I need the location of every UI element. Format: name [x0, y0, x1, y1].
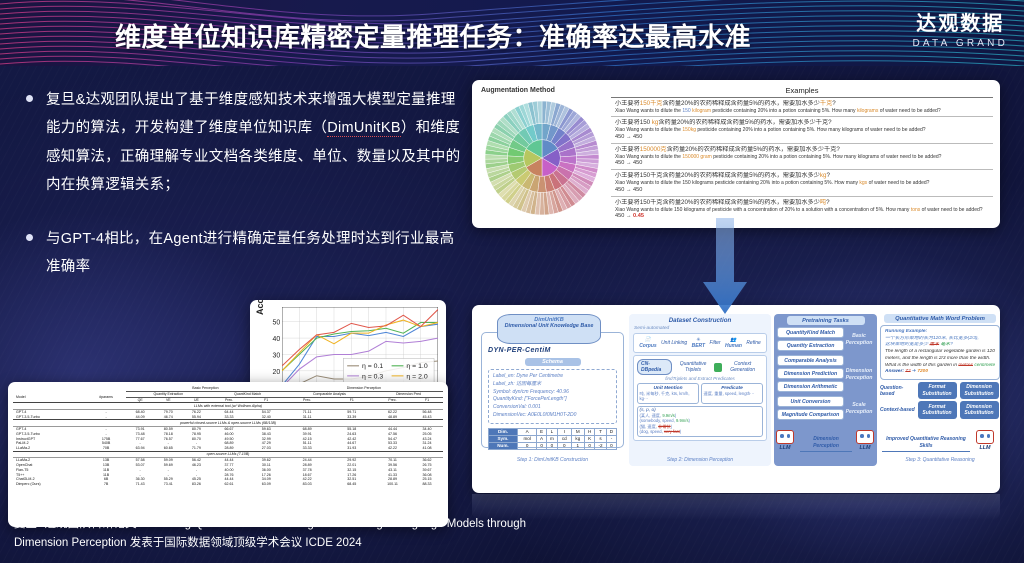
kb-entity-box: DYN-PER-CentiM Schema Label_en: Dyne Per… — [481, 332, 624, 448]
corpus-icon: 📄Corpus — [639, 337, 657, 349]
step2-label: Step 2: Dimension Perception — [629, 457, 771, 464]
format-substitution-button[interactable]: Format Substitution — [918, 401, 957, 419]
bullet-dot-icon — [26, 234, 33, 241]
example-cn: 小王要将150千克含药量20%的农药稀释成含药量5%的药水，需要加水多少吨? — [615, 199, 991, 207]
filter-label: Filter — [709, 340, 720, 346]
svg-text:η = 0.1: η = 0.1 — [362, 363, 384, 370]
example-row: 小王要将150千克含药量20%的农药稀释成含药量5%的药水，需要加水多少吨? X… — [611, 197, 993, 223]
svg-text:30: 30 — [273, 353, 281, 360]
example-cn-line: 这块菜地的宽是多少 厘米 毫米? — [885, 342, 995, 349]
example-answer: 450 → 450 — [615, 160, 991, 167]
task-item[interactable]: Quantity Extraction — [777, 340, 844, 351]
svg-text:η = 2.0: η = 2.0 — [406, 373, 428, 380]
context-based-row: Context-based Format Substitution Dimens… — [880, 401, 1000, 419]
example-cn-line: 一个长方形菜地的长为120米, 长比宽多(2/3), — [885, 336, 995, 343]
predicate-box: Predicate 速度, 重量, speed, length··· — [701, 383, 763, 404]
schema-line: ConversionVal: 0.001 — [493, 404, 612, 412]
down-arrow-icon — [703, 218, 747, 314]
slide-header: 维度单位知识库精密定量推理任务：准确率达最高水准 达观数据 DATA GRAND — [0, 0, 1024, 66]
bullet-list: 复旦&达观团队提出了基于维度感知技术来增强大模型定量推理能力的算法，开发构建了维… — [26, 86, 462, 308]
schema-line: Symbol: dyn/cm Frequency: 40.96 — [493, 389, 612, 397]
llm-node: LLM — [854, 430, 876, 451]
bert-icon: ✳BERT — [692, 337, 706, 349]
schema-line: Label_en: Dyne Per Centimetre — [493, 373, 612, 381]
refine-label: Refine — [746, 340, 760, 346]
svg-text:20: 20 — [273, 369, 281, 376]
footer-line-1: 复旦&达观团队科研论文Enhancing Quantitative Reason… — [14, 515, 654, 534]
context-generation-label: Context Generation — [722, 361, 763, 373]
schema-line: DimensionVec: A0E0L0I0M1H0T-2D0 — [493, 412, 612, 420]
example-cn: 小王要将150000克含药量20%的农药稀释成含药量5%的药水，需要加水多少千克… — [615, 146, 991, 154]
context-generation-icon — [714, 363, 722, 372]
pipeline-semi-automated: 📄Corpus Unit Linking ✳BERT Filter 👥Human… — [633, 333, 767, 353]
example-cn: 小王要将150千克含药量20%的农药稀释成含药量5%的药水，需要加水多少kg? — [615, 172, 991, 180]
robot-icon — [976, 430, 994, 444]
unit-linking-label: Unit Linking — [661, 340, 687, 346]
bullet-dot-icon — [26, 95, 33, 102]
dimunitkb-cylinder: DimUnitKB Dimensional Unit Knowledge Bas… — [497, 314, 601, 344]
pretraining-task-groups: QuantityKind MatchQuantity Extraction Ba… — [774, 327, 877, 422]
example-row: 小王要将150 kg含药量20%的农药稀释成含药量5%的药水，需要加水多少千克?… — [611, 117, 993, 144]
examples-label: Examples — [611, 85, 993, 97]
semi-automated-label: Semi-automated — [629, 326, 771, 331]
llm-flow-row: LLM Dimension Perception LLM Improved Qu… — [774, 428, 1000, 464]
table-row: Dimperc (Ours)7B71.4373.4183.2662.6163.0… — [13, 482, 443, 487]
format-substitution-button[interactable]: Format Substitution — [918, 382, 957, 400]
task-group-label: Scale Perception — [844, 402, 874, 416]
task-item[interactable]: Magnitude Comparison — [777, 409, 844, 420]
quantitative-triplets-label: Quantitative Triplets — [672, 361, 713, 373]
context-based-label: Context-based — [880, 407, 916, 413]
example-cn: 小王要将150千克含药量20%的农药稀释成含药量5%的药水，需要加水多少千克? — [615, 100, 991, 108]
footer-line-2: Dimension Perception 发表于国际数据领域顶级学术会议 ICD… — [14, 534, 654, 553]
bullet-item: 与GPT-4相比，在Agent进行精确定量任务处理时达到行业最高准确率 — [26, 225, 462, 282]
cn-dbpedia-node: CN-DBpedia — [637, 359, 672, 375]
schema-line: Label_zh: 达因每厘米 — [493, 381, 612, 389]
dimension-substitution-button[interactable]: Dimension Substitution — [960, 382, 999, 400]
augmentation-method-panel: Augmentation Method — [479, 85, 607, 223]
kb-entity-name: DYN-PER-CentiM — [488, 347, 617, 354]
dimunitkb-subtitle: Dimensional Unit Knowledge Base — [498, 323, 600, 330]
example-cn: 小王要将150 kg含药量20%的农药稀释成含药量5%的药水，需要加水多少千克? — [615, 119, 991, 127]
llm-node: LLM — [974, 430, 996, 451]
framework-diagram-card: DimUnitKB Dimensional Unit Knowledge Bas… — [472, 305, 1000, 493]
bullet-text: 复旦&达观团队提出了基于维度感知技术来增强大模型定量推理能力的算法，开发构建了维… — [46, 86, 462, 199]
task-item[interactable]: Dimension Prediction — [777, 368, 844, 379]
examples-panel: Examples 小王要将150千克含药量20%的农药稀释成含药量5%的药水，需… — [607, 85, 993, 223]
llm-node: LLM — [774, 430, 796, 451]
svg-text:η = 0.3: η = 0.3 — [362, 373, 384, 380]
example-answer: 450 → 450 — [615, 134, 991, 141]
question-based-label: Question-based — [880, 385, 916, 397]
schema-fields: Label_en: Dyne Per Centimetre Label_zh: … — [488, 369, 617, 424]
example-answer-line: Answer: 72 ➜ 7200 — [885, 369, 995, 376]
task-group: Unit ConversionMagnitude Comparison Scal… — [777, 396, 874, 422]
logo-text-cn: 达观数据 — [912, 13, 1008, 36]
pipeline-bootstrapping: CN-DBpedia Quantitative Triplets Context… — [633, 355, 767, 441]
schema-line: QuantityKind: ["ForcePerLength"] — [493, 396, 612, 404]
task-group-label: Dimension Perception — [844, 368, 874, 382]
task-group: QuantityKind MatchQuantity Extraction Ba… — [777, 327, 874, 353]
augmentation-method-label: Augmentation Method — [481, 87, 555, 94]
schema-label: Schema — [525, 358, 581, 366]
example-answer: 450 → 450 — [615, 187, 991, 194]
svg-text:η = 1.0: η = 1.0 — [406, 363, 428, 370]
example-en: Xiao Wang wants to dilute 150 kilograms … — [615, 207, 991, 214]
human-icon: 👥Human — [725, 337, 742, 349]
task-item[interactable]: QuantityKind Match — [777, 327, 844, 338]
logo-text-en: DATA GRAND — [912, 38, 1008, 49]
dimension-perception-arrow-label: Dimension Perception — [800, 436, 852, 452]
running-example-label: Running Example: — [885, 329, 995, 336]
robot-icon — [776, 430, 794, 444]
task-group: Comparable AnalysisDimension PredictionD… — [777, 355, 874, 394]
task-item[interactable]: Unit Conversion — [777, 396, 844, 407]
example-en-line: What is the width of this garden in metr… — [885, 363, 995, 370]
example-en: Xiao Wang wants to dilute the 150 kilogr… — [615, 108, 991, 115]
example-answer: 450 → 0.45 — [615, 213, 991, 220]
example-en-line: The length of a rectangular vegetable ga… — [885, 349, 995, 356]
task-group-label: Basic Perception — [844, 333, 874, 347]
dimension-vector-table: Dim.AELIMHTDSym.molAmcdkgKs-Num.000010-2… — [488, 428, 617, 450]
task-item[interactable]: Dimension Arithmetic — [777, 381, 844, 392]
task-item[interactable]: Comparable Analysis — [777, 355, 844, 366]
improved-skills-arrow-label: Improved Quantitative Reasoning Skills — [882, 436, 970, 452]
results-table-card: Basic PerceptionDimension PerceptionMode… — [8, 382, 448, 527]
example-en: Xiao Wang wants to dilute the 150000 gra… — [615, 154, 991, 161]
footer-caption: 复旦&达观团队科研论文Enhancing Quantitative Reason… — [14, 515, 654, 553]
example-row: 小王要将150千克含药量20%的农药稀释成含药量5%的药水，需要加水多少kg? … — [611, 170, 993, 197]
table-header: Basic PerceptionDimension PerceptionMode… — [13, 386, 443, 403]
augmentation-examples-card: Augmentation Method Examples 小王要将150千克含药… — [472, 80, 1000, 228]
results-table: Basic PerceptionDimension PerceptionMode… — [13, 386, 443, 487]
bullet-text: 与GPT-4相比，在Agent进行精确定量任务处理时达到行业最高准确率 — [46, 225, 462, 282]
step1-label: Step 1: DimUnitKB Construction — [479, 457, 626, 464]
table-body: LLMs with external tool (w/ Wolfram Alph… — [13, 403, 443, 487]
sunburst-chart — [481, 97, 603, 219]
example-row: 小王要将150000克含药量20%的农药稀释成含药量5%的药水，需要加水多少千克… — [611, 144, 993, 171]
unit-mention-box: Unit Mention 吨, 米每秒, 千克, kts, km/h, kg··… — [637, 383, 699, 404]
qmwp-title: Quantitative Math Word Problem — [884, 314, 996, 323]
bullet-item: 复旦&达观团队提出了基于维度感知技术来增强大模型定量推理能力的算法，开发构建了维… — [26, 86, 462, 199]
robot-icon — [856, 430, 874, 444]
question-based-row: Question-based Format Substitution Dimen… — [880, 382, 1000, 400]
step1-column: DimUnitKB Dimensional Unit Knowledge Bas… — [479, 314, 626, 466]
svg-text:40: 40 — [273, 336, 281, 343]
example-en-line: meters, and the length is 2/3 more than … — [885, 356, 995, 363]
pretraining-tasks-title: Pretraining Tasks — [787, 316, 865, 325]
example-row: 小王要将150千克含药量20%的农药稀释成含药量5%的药水，需要加水多少千克? … — [611, 98, 993, 117]
slide-title: 维度单位知识库精密定量推理任务：准确率达最高水准 — [115, 17, 751, 54]
step2-column: Dataset Construction Semi-automated 📄Cor… — [629, 314, 771, 466]
triplet-line: (dog, speed, very fast) — [640, 429, 761, 434]
find-triplets-caption: findTriplets and Extract Predicates — [637, 376, 763, 381]
dataset-construction-title: Dataset Construction — [629, 314, 771, 326]
brand-logo: 达观数据 DATA GRAND — [912, 13, 1008, 49]
svg-text:50: 50 — [273, 320, 281, 327]
triplet-box: (s, p, o) (某人, 速度, 9.9m/s) (somebody, sp… — [637, 406, 763, 438]
dimension-substitution-button[interactable]: Dimension Substitution — [960, 401, 999, 419]
running-example-box: Running Example: 一个长方形菜地的长为120米, 长比宽多(2/… — [880, 325, 1000, 380]
